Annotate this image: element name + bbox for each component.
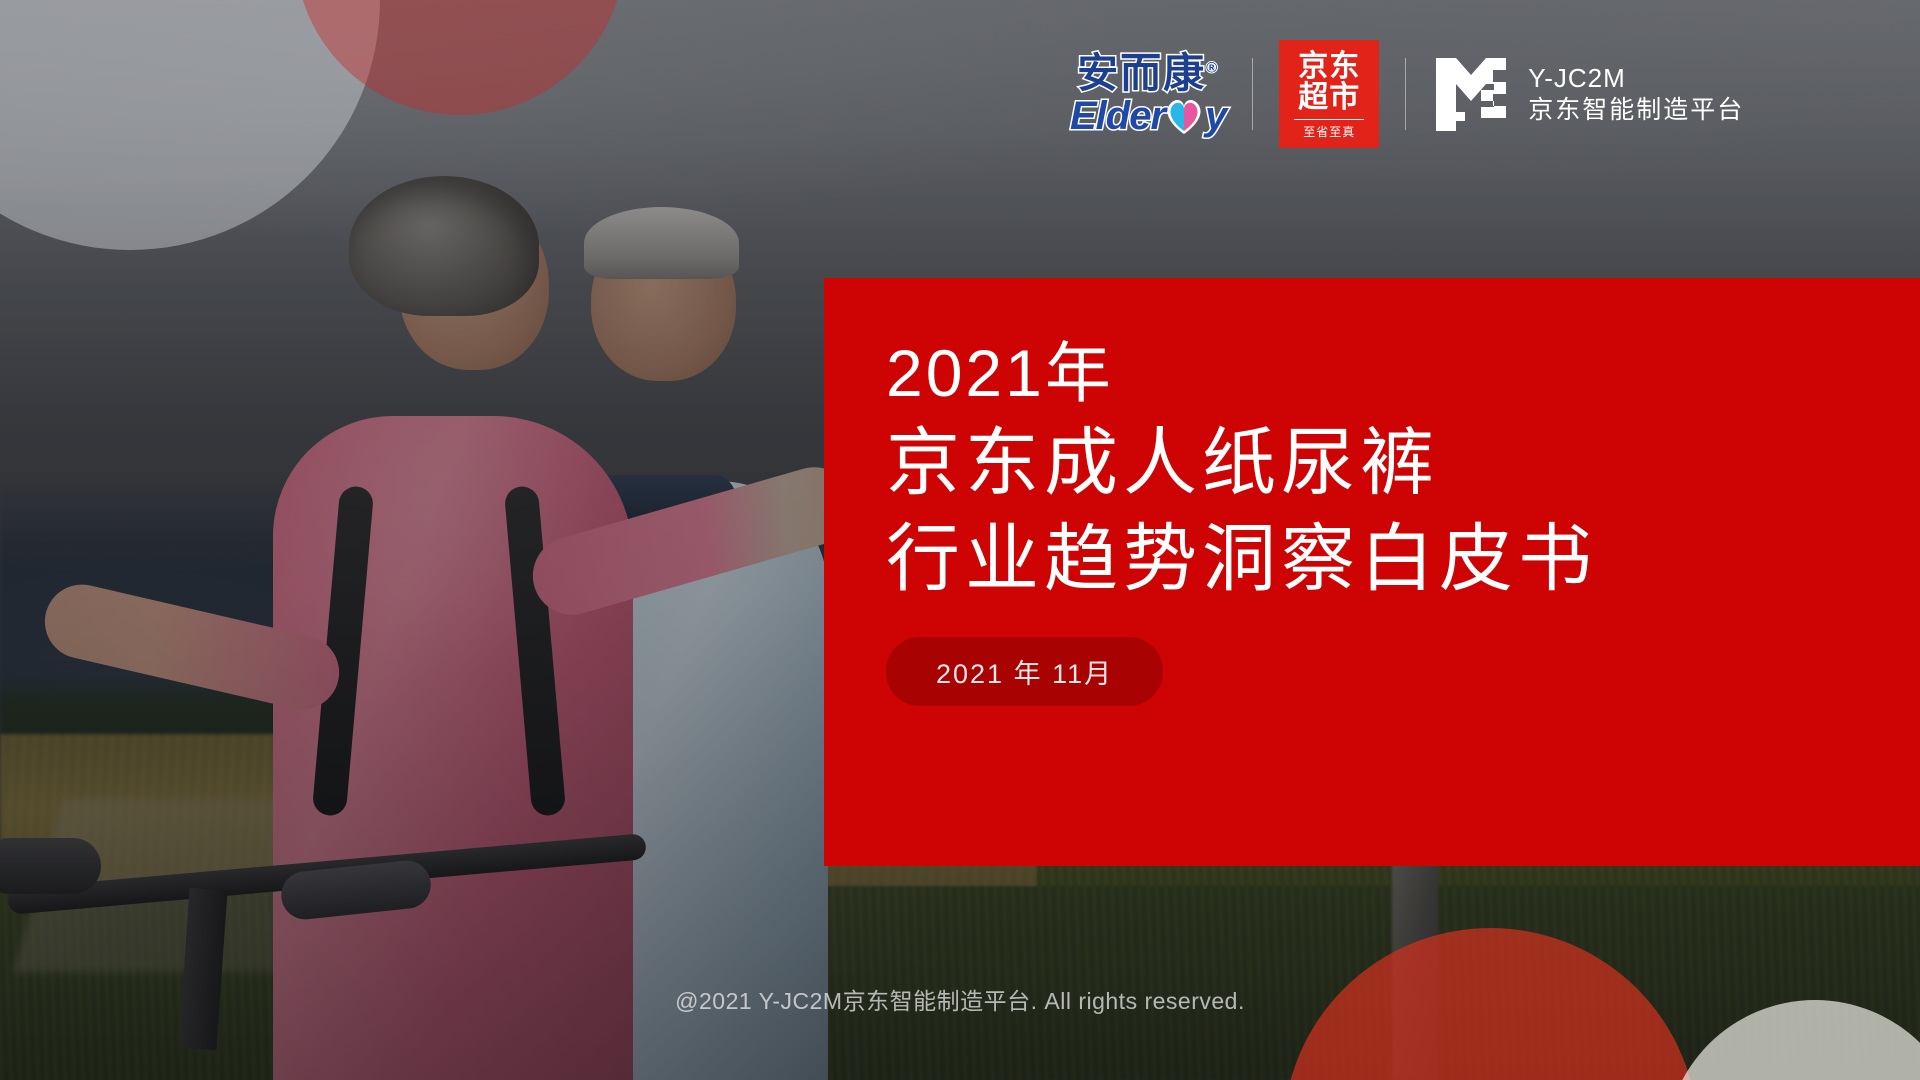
yjc2m-logo: Y-JC2M 京东智能制造平台: [1432, 52, 1744, 137]
elderjoy-logo: 安而康® Elder y: [1070, 53, 1226, 136]
registered-trademark-icon: ®: [1206, 59, 1219, 76]
yjc2m-monogram-icon: [1432, 52, 1510, 137]
elderjoy-heart-icon: [1163, 96, 1207, 136]
elderjoy-english-left: Elder: [1070, 96, 1165, 136]
jd-supermarket-line2: 超市: [1298, 82, 1360, 114]
title-year: 2021年: [886, 332, 1920, 415]
title-slide: 安而康® Elder y 京东 超市 至省至真: [0, 0, 1920, 1080]
title-line-2: 京东成人纸尿裤: [886, 415, 1920, 511]
elderjoy-chinese-text: 安而康: [1077, 50, 1206, 96]
footer: @2021 Y-JC2M京东智能制造平台. All rights reserve…: [0, 982, 1920, 1016]
logo-divider-2: [1405, 58, 1406, 130]
jd-supermarket-tagline: 至省至真: [1303, 123, 1355, 140]
title-panel: 2021年 京东成人纸尿裤 行业趋势洞察白皮书 2021 年 11月: [824, 278, 1920, 866]
copyright-text: @2021 Y-JC2M京东智能制造平台. All rights reserve…: [675, 982, 1245, 1016]
jd-supermarket-logo: 京东 超市 至省至真: [1279, 40, 1379, 148]
title-content: 2021年 京东成人纸尿裤 行业趋势洞察白皮书 2021 年 11月: [824, 278, 1920, 706]
yjc2m-code: Y-JC2M: [1528, 62, 1744, 95]
elderjoy-english-wordmark: Elder y: [1070, 96, 1226, 136]
jd-supermarket-line1: 京东: [1298, 51, 1360, 83]
date-badge: 2021 年 11月: [886, 637, 1163, 706]
title-line-3: 行业趋势洞察白皮书: [886, 511, 1920, 607]
elderjoy-chinese-wordmark: 安而康®: [1077, 53, 1219, 94]
yjc2m-chinese: 京东智能制造平台: [1528, 95, 1744, 126]
jd-supermarket-rule: [1294, 119, 1364, 120]
elderjoy-english-right: y: [1205, 96, 1226, 136]
yjc2m-text: Y-JC2M 京东智能制造平台: [1528, 62, 1744, 126]
logo-bar: 安而康® Elder y 京东 超市 至省至真: [1070, 44, 1744, 144]
logo-divider-1: [1252, 58, 1253, 130]
